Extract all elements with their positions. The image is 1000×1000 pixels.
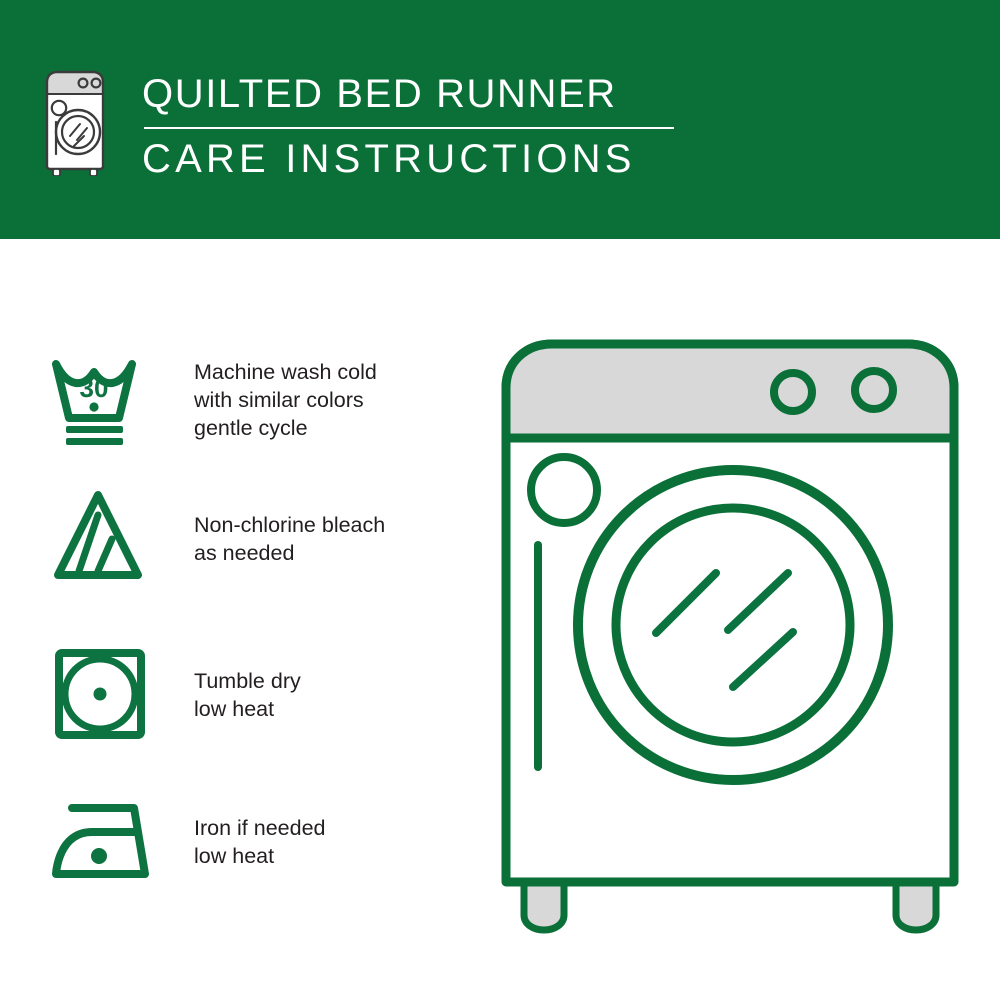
title-divider: [144, 127, 674, 129]
header-banner: QUILTED BED RUNNER CARE INSTRUCTIONS: [0, 0, 1000, 239]
care-row-wash: 30 Machine wash cold with similar colors…: [50, 352, 450, 457]
wash-tub-30-gentle-icon: 30: [50, 352, 168, 457]
iron-low-heat-icon: [50, 796, 168, 901]
washing-machine-logo-icon: [44, 68, 106, 176]
care-text-tumble-dry: Tumble dry low heat: [194, 645, 301, 723]
page-title: QUILTED BED RUNNER: [142, 70, 702, 118]
care-text-iron: Iron if needed low heat: [194, 796, 326, 870]
non-chlorine-bleach-triangle-icon: [50, 487, 168, 592]
wash-temperature-value: 30: [80, 373, 109, 403]
care-text-bleach: Non-chlorine bleach as needed: [194, 487, 385, 567]
page-subtitle: CARE INSTRUCTIONS: [142, 135, 702, 183]
care-text-wash: Machine wash cold with similar colors ge…: [194, 352, 377, 442]
tumble-dry-low-heat-icon: [50, 645, 168, 750]
header-text-block: QUILTED BED RUNNER CARE INSTRUCTIONS: [142, 70, 702, 183]
care-row-iron: Iron if needed low heat: [50, 796, 450, 901]
front-load-washing-machine-illustration: [480, 330, 980, 940]
care-row-bleach: Non-chlorine bleach as needed: [50, 487, 450, 592]
care-row-tumble-dry: Tumble dry low heat: [50, 645, 450, 750]
care-instructions-page: QUILTED BED RUNNER CARE INSTRUCTIONS 30 …: [0, 0, 1000, 1000]
